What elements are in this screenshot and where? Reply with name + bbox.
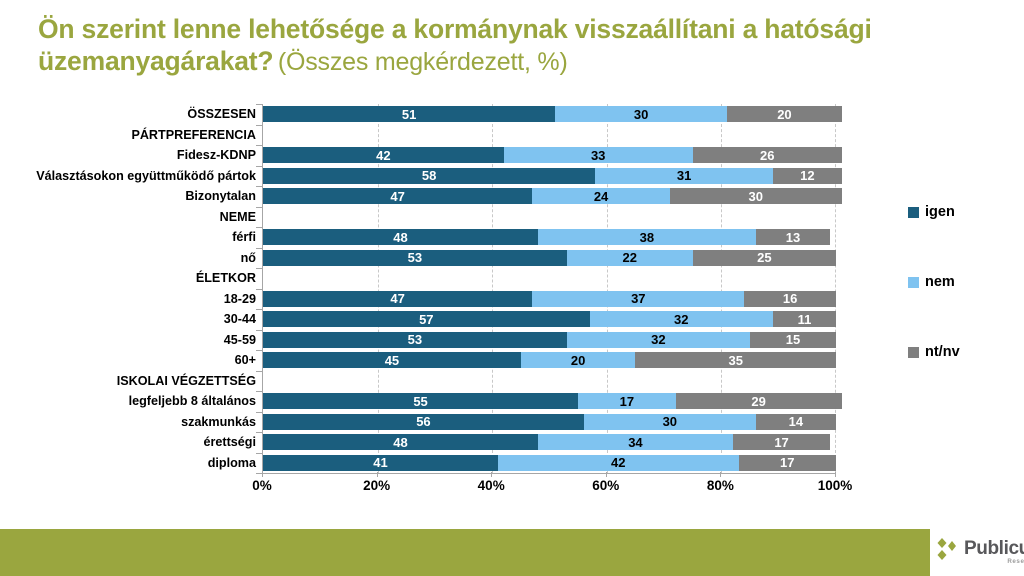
legend-label: nt/nv xyxy=(925,344,960,360)
x-tick-mark xyxy=(835,472,836,477)
bar-row[interactable]: 473716 xyxy=(263,291,836,307)
x-tick-label: 80% xyxy=(707,478,734,493)
bar-segment-igen[interactable]: 56 xyxy=(263,414,584,430)
bar-row[interactable]: 533215 xyxy=(263,332,836,348)
bar-segment-nem[interactable]: 42 xyxy=(498,455,739,471)
category-label: PÁRTPREFERENCIA xyxy=(12,124,262,146)
bar-row[interactable]: 483813 xyxy=(263,229,836,245)
chart-legend: igennemnt/nv xyxy=(908,104,1024,473)
legend-item-igen[interactable]: igen xyxy=(908,204,955,220)
category-label: érettségi xyxy=(12,431,262,453)
bar-row[interactable]: 573211 xyxy=(263,311,836,327)
bar-segment-igen[interactable]: 48 xyxy=(263,229,538,245)
bar-segment-igen[interactable]: 47 xyxy=(263,188,532,204)
x-tick-label: 40% xyxy=(478,478,505,493)
bar-segment-nt-nv[interactable]: 12 xyxy=(773,168,842,184)
bar-segment-igen[interactable]: 51 xyxy=(263,106,555,122)
x-tick-mark xyxy=(491,472,492,477)
bar-segment-nt-nv[interactable]: 26 xyxy=(693,147,842,163)
bar-row[interactable]: 414217 xyxy=(263,455,836,471)
page-title: Ön szerint lenne lehetősége a kormánynak… xyxy=(38,14,998,78)
bar-segment-nt-nv[interactable]: 25 xyxy=(693,250,836,266)
category-label: Bizonytalan xyxy=(12,185,262,207)
x-tick-mark xyxy=(262,472,263,477)
bar-segment-nt-nv[interactable]: 17 xyxy=(739,455,836,471)
bar-segment-nem[interactable]: 32 xyxy=(567,332,750,348)
bar-segment-nt-nv[interactable]: 15 xyxy=(750,332,836,348)
bar-segment-nt-nv[interactable]: 30 xyxy=(670,188,842,204)
diamond-logo-icon xyxy=(934,537,960,568)
bar-row[interactable]: 513020 xyxy=(263,106,836,122)
bar-segment-nt-nv[interactable]: 14 xyxy=(756,414,836,430)
category-label: ISKOLAI VÉGZETTSÉG xyxy=(12,370,262,392)
bar-segment-nem[interactable]: 37 xyxy=(532,291,744,307)
category-label: diploma xyxy=(12,452,262,474)
legend-label: nem xyxy=(925,274,955,290)
bar-segment-nt-nv[interactable]: 20 xyxy=(727,106,842,122)
bar-row[interactable]: 551729 xyxy=(263,393,836,409)
category-label: 30-44 xyxy=(12,308,262,330)
category-label: 60+ xyxy=(12,349,262,371)
x-tick-label: 60% xyxy=(592,478,619,493)
x-tick-mark xyxy=(377,472,378,477)
bar-row[interactable]: 472430 xyxy=(263,188,836,204)
bar-row[interactable]: 563014 xyxy=(263,414,836,430)
bar-segment-nem[interactable]: 34 xyxy=(538,434,733,450)
bar-segment-igen[interactable]: 41 xyxy=(263,455,498,471)
bar-segment-nt-nv[interactable]: 13 xyxy=(756,229,830,245)
x-tick-mark xyxy=(606,472,607,477)
legend-swatch-icon xyxy=(908,207,919,218)
category-label: férfi xyxy=(12,226,262,248)
logo-wordmark: Publicus xyxy=(964,539,1024,558)
bar-segment-nem[interactable]: 30 xyxy=(584,414,756,430)
logo-tagline: Research xyxy=(1007,559,1024,565)
bar-segment-nt-nv[interactable]: 29 xyxy=(676,393,842,409)
bar-segment-igen[interactable]: 47 xyxy=(263,291,532,307)
title-subtitle-text: (Összes megkérdezett, %) xyxy=(278,48,568,76)
bar-segment-igen[interactable]: 42 xyxy=(263,147,504,163)
plot-area: 5130204233265831124724304838135322254737… xyxy=(262,104,836,474)
bar-segment-nem[interactable]: 31 xyxy=(595,168,773,184)
bar-segment-nem[interactable]: 33 xyxy=(504,147,693,163)
bar-segment-nem[interactable]: 38 xyxy=(538,229,756,245)
bar-row[interactable]: 583112 xyxy=(263,168,836,184)
stacked-bar-chart: ÖSSZESENPÁRTPREFERENCIAFidesz-KDNPVálasz… xyxy=(0,104,1024,504)
category-label: 45-59 xyxy=(12,329,262,351)
bar-row[interactable]: 423326 xyxy=(263,147,836,163)
bar-segment-igen[interactable]: 45 xyxy=(263,352,521,368)
x-tick-label: 20% xyxy=(363,478,390,493)
bar-segment-nem[interactable]: 32 xyxy=(590,311,773,327)
category-label: ÉLETKOR xyxy=(12,267,262,289)
bar-segment-nt-nv[interactable]: 16 xyxy=(744,291,836,307)
bar-segment-nt-nv[interactable]: 11 xyxy=(773,311,836,327)
bar-row[interactable]: 532225 xyxy=(263,250,836,266)
category-axis-labels: ÖSSZESENPÁRTPREFERENCIAFidesz-KDNPVálasz… xyxy=(0,104,262,473)
bar-segment-nt-nv[interactable]: 35 xyxy=(635,352,836,368)
bar-row[interactable]: 483417 xyxy=(263,434,836,450)
bar-segment-nem[interactable]: 20 xyxy=(521,352,636,368)
legend-item-nt-nv[interactable]: nt/nv xyxy=(908,344,960,360)
bar-segment-nem[interactable]: 17 xyxy=(578,393,675,409)
category-label: nő xyxy=(12,247,262,269)
bar-segment-igen[interactable]: 53 xyxy=(263,332,567,348)
legend-item-nem[interactable]: nem xyxy=(908,274,955,290)
category-label: Választásokon együttműködő pártok xyxy=(12,165,262,187)
bar-segment-nem[interactable]: 22 xyxy=(567,250,693,266)
bar-segment-nt-nv[interactable]: 17 xyxy=(733,434,830,450)
footer-accent-bar xyxy=(0,529,930,576)
bar-segment-igen[interactable]: 48 xyxy=(263,434,538,450)
category-label: ÖSSZESEN xyxy=(12,103,262,125)
x-tick-label: 0% xyxy=(252,478,272,493)
category-label: 18-29 xyxy=(12,288,262,310)
legend-swatch-icon xyxy=(908,347,919,358)
bar-segment-nem[interactable]: 30 xyxy=(555,106,727,122)
x-tick-label: 100% xyxy=(818,478,853,493)
legend-label: igen xyxy=(925,204,955,220)
bar-segment-igen[interactable]: 55 xyxy=(263,393,578,409)
x-axis: 0%20%40%60%80%100% xyxy=(262,478,835,500)
legend-swatch-icon xyxy=(908,277,919,288)
category-label: NEME xyxy=(12,206,262,228)
x-tick-mark xyxy=(720,472,721,477)
category-label: Fidesz-KDNP xyxy=(12,144,262,166)
bar-segment-nem[interactable]: 24 xyxy=(532,188,670,204)
publicus-research-logo: Publicus Research xyxy=(930,529,1024,576)
bar-row[interactable]: 452035 xyxy=(263,352,836,368)
bar-segment-igen[interactable]: 58 xyxy=(263,168,595,184)
bar-segment-igen[interactable]: 57 xyxy=(263,311,590,327)
category-label: szakmunkás xyxy=(12,411,262,433)
category-label: legfeljebb 8 általános xyxy=(12,390,262,412)
bar-segment-igen[interactable]: 53 xyxy=(263,250,567,266)
